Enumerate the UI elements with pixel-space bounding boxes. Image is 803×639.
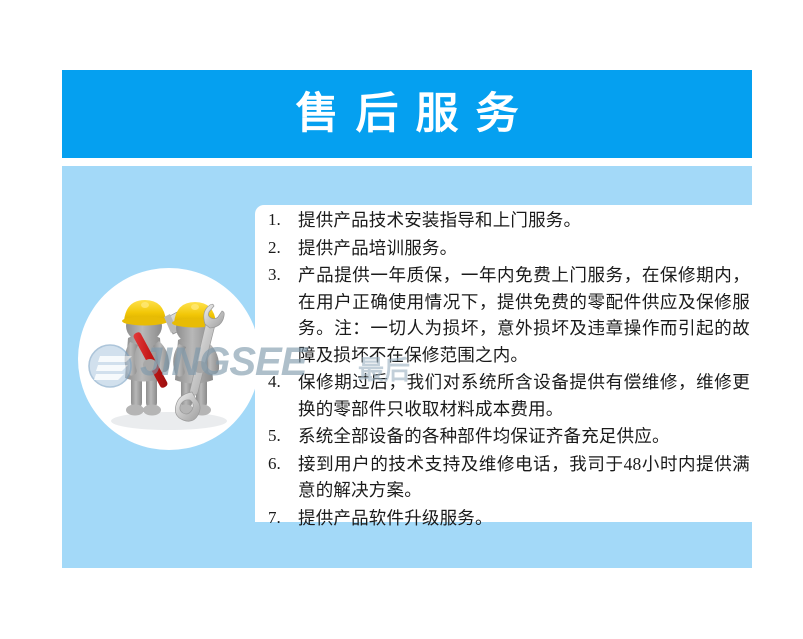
list-item-number: 6. — [268, 451, 298, 478]
header-banner: 售后服务 — [62, 70, 752, 158]
list-item-text: 系统全部设备的各种部件均保证齐备充足供应。 — [298, 423, 750, 450]
list-item: 5. 系统全部设备的各种部件均保证齐备充足供应。 — [268, 423, 750, 450]
list-item-text: 提供产品培训服务。 — [298, 235, 750, 262]
list-item-text: 接到用户的技术支持及维修电话，我司于48小时内提供满意的解决方案。 — [298, 451, 750, 504]
list-item-text: 提供产品技术安装指导和上门服务。 — [298, 207, 750, 234]
two-workers-with-tools-icon — [78, 268, 260, 450]
list-item-number: 4. — [268, 369, 298, 396]
list-item: 7. 提供产品软件升级服务。 — [268, 505, 750, 532]
list-item: 4. 保修期过后，我们对系统所含设备提供有偿维修，维修更换的零部件只收取材料成本… — [268, 369, 750, 422]
list-item-number: 3. — [268, 262, 298, 289]
list-item: 6. 接到用户的技术支持及维修电话，我司于48小时内提供满意的解决方案。 — [268, 451, 750, 504]
list-item-text: 产品提供一年质保，一年内免费上门服务，在保修期内，在用户正确使用情况下，提供免费… — [298, 262, 750, 368]
list-item-number: 5. — [268, 423, 298, 450]
list-item-text: 保修期过后，我们对系统所含设备提供有偿维修，维修更换的零部件只收取材料成本费用。 — [298, 369, 750, 422]
page-title: 售后服务 — [279, 93, 536, 136]
list-item: 2. 提供产品培训服务。 — [268, 235, 750, 262]
workers-illustration — [78, 268, 260, 450]
list-item-text: 提供产品软件升级服务。 — [298, 505, 750, 532]
list-item: 3. 产品提供一年质保，一年内免费上门服务，在保修期内，在用户正确使用情况下，提… — [268, 262, 750, 368]
service-list: 1. 提供产品技术安装指导和上门服务。 2. 提供产品培训服务。 3. 产品提供… — [268, 207, 750, 532]
list-item: 1. 提供产品技术安装指导和上门服务。 — [268, 207, 750, 234]
list-item-number: 2. — [268, 235, 298, 262]
list-item-number: 1. — [268, 207, 298, 234]
list-item-number: 7. — [268, 505, 298, 532]
page-root: 售后服务 — [0, 0, 803, 639]
